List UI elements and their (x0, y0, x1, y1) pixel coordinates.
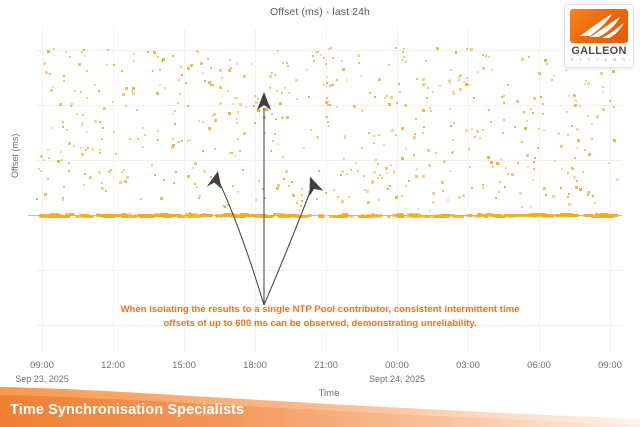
y-axis-label: Offset (ms) (10, 134, 20, 178)
chart-title: Offset (ms) - last 24h (0, 6, 640, 18)
x-axis-tick: 06:00 (509, 360, 569, 371)
logo-name: GALLEON (565, 45, 633, 57)
chart-annotation-text: When isolating the results to a single N… (86, 303, 554, 331)
footer-banner: Time Synchronisation Specialists (0, 379, 640, 427)
x-axis-tick: 09:00 (580, 360, 640, 371)
x-axis-tick: 00:00 (367, 360, 427, 371)
x-axis-tick: 09:00 (12, 360, 72, 371)
galleon-logo: GALLEON S Y S T E M S (564, 4, 634, 68)
x-axis-tick: 21:00 (296, 360, 356, 371)
annotation-line-2: offsets of up to 600 ms can be observed,… (86, 317, 554, 331)
flame-icon (570, 9, 628, 43)
x-axis-tick: 18:00 (225, 360, 285, 371)
annotation-line-1: When isolating the results to a single N… (86, 303, 554, 317)
x-axis-tick: 03:00 (438, 360, 498, 371)
logo-subtitle: S Y S T E M S (565, 57, 633, 62)
x-axis-tick: 12:00 (83, 360, 143, 371)
footer-tagline: Time Synchronisation Specialists (10, 402, 244, 418)
x-axis-tick: 15:00 (154, 360, 214, 371)
